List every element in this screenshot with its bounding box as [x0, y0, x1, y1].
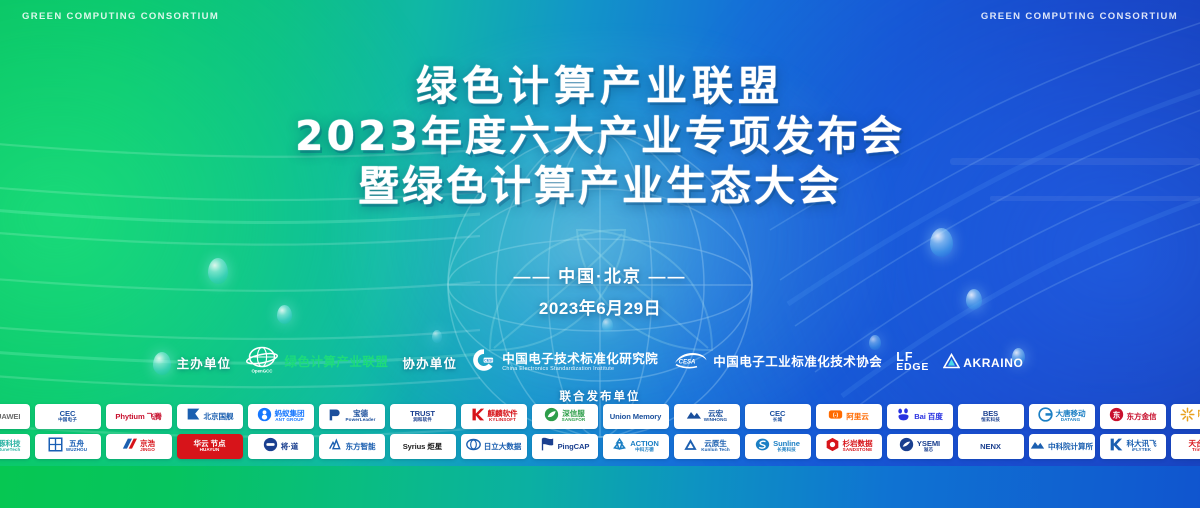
s-icon — [755, 437, 770, 457]
partner-logo-2-12[interactable]: 云原生Kunlun Tech — [674, 434, 740, 459]
partner-logo-1-11[interactable]: 云宏WINHONG — [674, 404, 740, 429]
subtitle-block: —— 中国·北京 —— 2023年6月29日 — [0, 262, 1200, 319]
partner-name-en: SANDSTONE — [843, 448, 873, 453]
partner-logo-1-15[interactable]: BES恒玄科技 — [958, 404, 1024, 429]
block-icon — [122, 437, 137, 457]
akraino-icon — [943, 353, 960, 372]
partner-logo-1-8[interactable]: 麒麟软件KYLINSOFT — [461, 404, 527, 429]
aliyun-icon: (-) — [828, 407, 843, 427]
partner-logo-1-10[interactable]: Union Memory — [603, 404, 669, 429]
host-name: 绿色计算产业联盟 — [284, 356, 388, 369]
seal-icon: 东 — [1109, 407, 1124, 427]
burst-icon — [1180, 407, 1195, 427]
mount2-icon — [1030, 437, 1045, 457]
baidu-icon — [896, 407, 911, 427]
partner-logo-row-1: 安谋科技arm CHINA HUAWEI CEC — [0, 404, 1200, 429]
opengcc-wordmark: OpenGCC — [252, 369, 274, 374]
title-line-3: 暨绿色计算产业生态大会 — [0, 166, 1200, 207]
corner-brand-right: GREEN COMPUTING CONSORTIUM — [981, 11, 1178, 22]
partner-name-en: ANT GROUP — [275, 418, 305, 423]
partner-name-cn: 日立大数据 — [484, 443, 521, 451]
partner-name-en: NeptuneTech — [0, 448, 20, 453]
title-block: 绿色计算产业联盟 2023年度六大产业专项发布会 暨绿色计算产业生态大会 — [0, 66, 1200, 207]
partner-logo-2-19[interactable]: 天合光能Trinasolar — [1171, 434, 1200, 459]
k-icon — [470, 407, 485, 427]
mountain-icon — [686, 407, 701, 427]
coorganizer-cesi: CESI 中国电子技术标准化研究院 China Electronics Stan… — [471, 347, 658, 378]
partner-logo-1-13[interactable]: (-) 阿里云 — [816, 404, 882, 429]
partner-name-cn: PingCAP — [558, 443, 590, 451]
bubble-decoration — [432, 330, 442, 343]
partner-logo-2-18[interactable]: 科大讯飞iFLYTEK — [1100, 434, 1166, 459]
partner-logo-1-7[interactable]: TRUST润和软件 — [390, 404, 456, 429]
partner-name-cn: 东方金信 — [1127, 413, 1157, 421]
partner-name-en: 润和软件 — [410, 418, 435, 423]
partner-logo-2-9[interactable]: 日立大数据 — [461, 434, 527, 459]
partner-name-en: Trinasolar — [1189, 448, 1200, 453]
partner-logo-2-5[interactable]: 华云 节点HUAYUN — [177, 434, 243, 459]
partner-logo-2-4[interactable]: 京浩JINGO — [106, 434, 172, 459]
partner-name-en: HUAYUN — [194, 448, 226, 453]
partner-name-en: 长亮科技 — [773, 448, 800, 453]
partner-name-cn: Bai 百度 — [914, 413, 943, 421]
partner-logo-1-3[interactable]: Phytium 飞腾 — [106, 404, 172, 429]
partner-logo-1-2[interactable]: CEC中国电子 — [35, 404, 101, 429]
title-line-1: 绿色计算产业联盟 — [0, 66, 1200, 107]
partner-logo-2-15[interactable]: YSEMI溢芯 — [887, 434, 953, 459]
cesa-swoosh-icon: CESA — [672, 349, 708, 376]
partner-name-en: DATANG — [1056, 418, 1086, 423]
partner-logo-2-3[interactable]: 五舟WUZHOU — [35, 434, 101, 459]
partner-logo-1-9[interactable]: 深信服SANGFOR — [532, 404, 598, 429]
partner-name-en: iFLYTEK — [1127, 448, 1157, 453]
cesi-name-cn: 中国电子技术标准化研究院 — [502, 353, 658, 366]
partner-name-en: 中科方德 — [630, 448, 659, 453]
coorganizer-label: 协办单位 — [402, 353, 457, 372]
triangle-icon — [683, 437, 698, 457]
partner-logo-2-2[interactable]: 海豚科技NeptuneTech — [0, 434, 30, 459]
partner-name-cn: Phytium 飞腾 — [115, 413, 161, 421]
partner-name-en: PowerLeader — [346, 418, 376, 423]
partner-logo-2-7[interactable]: 东方智能 — [319, 434, 385, 459]
partner-name-cn: 东方智能 — [346, 443, 376, 451]
partner-logo-1-16[interactable]: 大唐移动DATANG — [1029, 404, 1095, 429]
leaf-icon — [544, 407, 559, 427]
partner-logo-1-14[interactable]: Bai 百度 — [887, 404, 953, 429]
partner-logo-2-17[interactable]: 中科院计算所 — [1029, 434, 1095, 459]
event-date: 2023年6月29日 — [0, 294, 1200, 319]
hex-icon — [825, 437, 840, 457]
cesi-circle-icon: CESI — [471, 347, 497, 378]
tri-icon — [328, 437, 343, 457]
partner-name-cn: 将·道 — [281, 443, 298, 451]
partner-logo-2-14[interactable]: 杉岩数据SANDSTONE — [816, 434, 882, 459]
partner-logo-2-11[interactable]: ACTION中科方德 — [603, 434, 669, 459]
flag-icon — [186, 407, 201, 427]
partner-name-en: 恒玄科技 — [981, 418, 1000, 423]
oval-icon — [466, 437, 481, 457]
svg-text:东: 东 — [1112, 409, 1120, 419]
partner-logo-1-1[interactable]: HUAWEI — [0, 404, 30, 429]
organizer-strip: 主办单位 OpenGCC 绿色计算产业联盟 协办单位 CESI — [0, 345, 1200, 380]
bubble-decoration — [930, 228, 953, 257]
partner-logo-1-12[interactable]: CEC长城 — [745, 404, 811, 429]
coorganizer-akraino: AKRAINO — [943, 353, 1023, 372]
partner-name-en: 中国电子 — [58, 418, 77, 423]
partner-name-en: WUZHOU — [66, 448, 87, 453]
partner-logo-1-6[interactable]: 宝德PowerLeader — [319, 404, 385, 429]
event-location: —— 中国·北京 —— — [0, 262, 1200, 287]
partner-name-cn: 阿里云 — [846, 413, 868, 421]
partner-logo-2-6[interactable]: 将·道 — [248, 434, 314, 459]
bubble-decoration — [602, 318, 613, 332]
partner-name-en: 长城 — [770, 418, 786, 423]
host-label: 主办单位 — [177, 353, 232, 372]
partner-name-cn: NENX — [980, 443, 1001, 451]
partner-logo-1-17[interactable]: 东 东方金信 — [1100, 404, 1166, 429]
partner-logo-1-5[interactable]: 蚂蚁集团ANT GROUP — [248, 404, 314, 429]
joint-release-title: 联合发布单位 — [0, 388, 1200, 404]
partner-name-en: 溢芯 — [917, 448, 940, 453]
conference-banner: GREEN COMPUTING CONSORTIUM GREEN COMPUTI… — [0, 0, 1200, 508]
bottom-gradient-band — [0, 466, 1200, 508]
partner-name-cn: Union Memory — [610, 413, 662, 421]
cesa-name-cn: 中国电子工业标准化技术协会 — [713, 356, 882, 369]
recycle-icon — [612, 437, 627, 457]
partner-name-cn: 北京国舰 — [204, 413, 234, 421]
coorganizer-cesa: CESA 中国电子工业标准化技术协会 — [672, 349, 882, 376]
opengcc-globe-icon: OpenGCC — [245, 345, 279, 380]
partner-name-en: SANGFOR — [562, 418, 586, 423]
wave-icon — [899, 437, 914, 457]
grid-icon — [48, 437, 63, 457]
partner-name-en: WINHONG — [704, 418, 727, 423]
link-icon — [263, 437, 278, 457]
partner-logo-grid: 安谋科技arm CHINA HUAWEI CEC — [0, 404, 1200, 464]
partner-logo-2-16[interactable]: NENX — [958, 434, 1024, 459]
partner-logo-2-10[interactable]: PingCAP — [532, 434, 598, 459]
partner-logo-2-8[interactable]: Syrius 炬星 — [390, 434, 456, 459]
partner-name-cn: Syrius 炬星 — [403, 443, 443, 451]
ant-icon — [257, 407, 272, 427]
lf-edge-bottom: EDGE — [896, 363, 929, 373]
corner-brand-left: GREEN COMPUTING CONSORTIUM — [22, 11, 219, 22]
partner-name-en: Kunlun Tech — [701, 448, 730, 453]
partner-logo-row-2: 创维数字Coocaa SKY 雷曼光电 海豚科技 — [0, 434, 1200, 459]
lf-edge-icon: LF EDGE — [896, 352, 929, 374]
svg-text:CESI: CESI — [484, 359, 492, 363]
flag2-icon — [540, 437, 555, 457]
host-organization: OpenGCC 绿色计算产业联盟 — [245, 345, 388, 380]
partner-name-en: JINGO — [140, 448, 155, 453]
partner-name-cn: 中科院计算所 — [1048, 443, 1093, 451]
partner-name-cn: HUAWEI — [0, 413, 20, 421]
partner-name-en: KYLINSOFT — [488, 418, 518, 423]
g-icon — [1038, 407, 1053, 427]
svg-text:(-): (-) — [833, 412, 839, 418]
partner-logo-1-18[interactable]: 同盾科技TONGDUN — [1171, 404, 1200, 429]
title-line-2: 2023年度六大产业专项发布会 — [0, 116, 1200, 157]
coorganizer-lf-edge: LF EDGE — [896, 352, 929, 374]
pl-icon — [328, 407, 343, 427]
svg-text:CESA: CESA — [679, 360, 696, 366]
partner-logo-2-13[interactable]: Sunline长亮科技 — [745, 434, 811, 459]
k2-icon — [1109, 437, 1124, 457]
akraino-label: AKRAINO — [963, 356, 1023, 370]
partner-logo-1-4[interactable]: 北京国舰 — [177, 404, 243, 429]
cesi-name-en: China Electronics Standardization Instit… — [502, 366, 658, 372]
